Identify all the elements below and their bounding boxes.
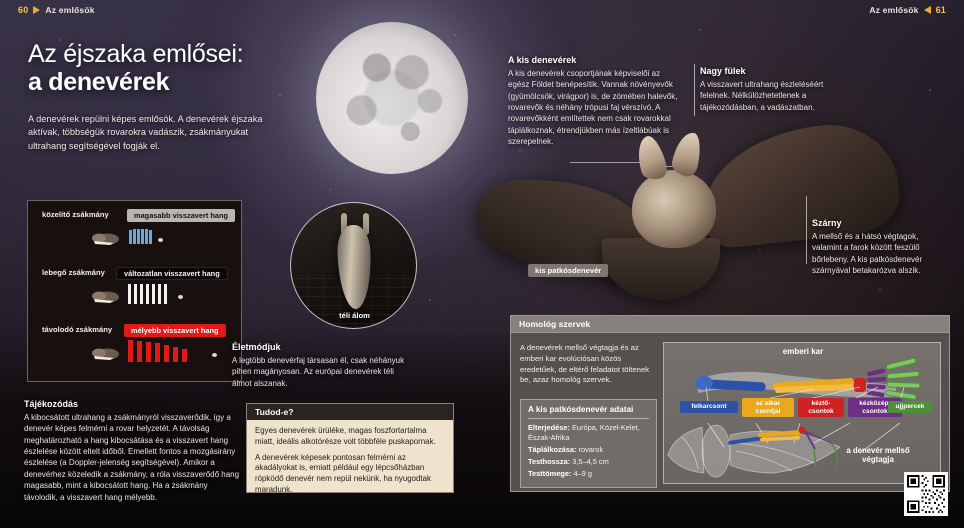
species-data-val-mass: 4–9 g: [571, 469, 592, 478]
callout-wing-body: A mellső és a hátsó végtagok, valamint a…: [812, 231, 940, 276]
species-data-val-length: 3,5–4,5 cm: [570, 457, 609, 466]
prey-dot-2: [178, 295, 183, 299]
lead-paragraph: A denevérek repülni képes emlősök. A den…: [28, 113, 276, 153]
page-title: Az éjszaka emlősei: a denevérek: [28, 40, 328, 97]
echo-label-receding: távolodó zsákmány: [42, 325, 112, 334]
echo-badge-hovering: változatlan visszavert hang: [116, 267, 228, 280]
callout-wing: Szárny A mellső és a hátsó végtagok, val…: [812, 218, 940, 276]
echo-bars-hovering: [128, 284, 167, 304]
title-line-2: a denevérek: [28, 68, 328, 96]
homologous-panel-heading: Homológ szervek: [511, 316, 949, 333]
callout-wing-heading: Szárny: [812, 218, 940, 228]
bone-label-forearm: az alkar csontjai: [742, 398, 794, 417]
prey-insect-icon-3: [88, 344, 122, 362]
echo-bars-approaching: [129, 229, 152, 244]
title-line-1: Az éjszaka emlősei:: [28, 40, 243, 68]
section-label-right: Az emlősök: [869, 5, 918, 15]
callout-orientation: Tájékozódás A kibocsátott ultrahang a zs…: [24, 399, 242, 503]
header-left: 60 Az emlősök: [18, 5, 95, 15]
callout-orientation-body: A kibocsátott ultrahang a zsákmányról vi…: [24, 412, 242, 503]
homologous-organs-panel: Homológ szervek A denevérek mellső végta…: [510, 315, 950, 492]
did-you-know-heading: Tudod-e?: [247, 404, 453, 420]
homologous-panel-intro: A denevérek mellső végtagja és az emberi…: [520, 343, 655, 386]
callout-lifestyle-heading: Életmódjuk: [232, 342, 414, 352]
echo-row-approaching: közelítő zsákmány magasabb visszavert ha…: [28, 207, 243, 263]
diagram-title: emberi kar: [664, 347, 942, 356]
species-data-key-length: Testhossza:: [528, 457, 570, 466]
pill-label-bat-species: kis patkósdenevér: [528, 264, 608, 277]
full-moon-photo: [316, 22, 468, 174]
species-data-row-range: Elterjedése: Európa, Közel-Kelet, Észak-…: [528, 423, 649, 443]
did-you-know-p1: Egyes denevérek ürüléke, magas foszforta…: [255, 426, 445, 448]
section-label-left: Az emlősök: [45, 5, 94, 15]
prey-dot-3: [212, 353, 217, 357]
bat-ear-left: [632, 133, 669, 182]
callout-orientation-heading: Tájékozódás: [24, 399, 242, 409]
echo-row-hovering: lebegő zsákmány változatlan visszavert h…: [28, 265, 243, 321]
echolocation-panel: közelítő zsákmány magasabb visszavert ha…: [27, 200, 242, 382]
magazine-spread: 60 Az emlősök Az emlősök 61 Az éjszaka e…: [0, 0, 964, 528]
hibernation-caption: téli álom: [291, 311, 417, 320]
callout-big-ears-body: A visszavert ultrahang észleléséért fele…: [700, 79, 830, 113]
callout-big-ears: Nagy fülek A visszavert ultrahang észlel…: [700, 66, 830, 113]
header-right: Az emlősök 61: [869, 5, 946, 15]
species-data-key-mass: Testtömege:: [528, 469, 571, 478]
callout-small-bats-heading: A kis denevérek: [508, 55, 680, 65]
species-data-val-diet: rovarok: [576, 445, 603, 454]
echo-label-approaching: közelítő zsákmány: [42, 210, 109, 219]
species-data-key-diet: Táplálkozása:: [528, 445, 576, 454]
echo-row-receding: távolodó zsákmány mélyebb visszavert han…: [28, 322, 243, 378]
echo-badge-receding: mélyebb visszavert hang: [124, 324, 226, 337]
qr-code[interactable]: [904, 472, 948, 516]
callout-big-ears-heading: Nagy fülek: [700, 66, 830, 76]
species-data-title: A kis patkósdenevér adatai: [528, 405, 649, 414]
triangle-left-icon: [924, 6, 931, 14]
did-you-know-body: Egyes denevérek ürüléke, magas foszforta…: [247, 420, 453, 496]
species-data-row-length: Testhossza: 3,5–4,5 cm: [528, 457, 649, 467]
bone-label-phalanges: ujjpercek: [888, 401, 932, 413]
hibernation-photo: téli álom: [290, 202, 417, 329]
species-data-card: A kis patkósdenevér adatai Elterjedése: …: [520, 399, 657, 488]
did-you-know-box: Tudod-e? Egyes denevérek ürüléke, magas …: [246, 403, 454, 493]
triangle-right-icon: [33, 6, 40, 14]
bat-tail-membrane: [602, 238, 720, 300]
prey-insect-icon-1: [88, 229, 122, 247]
species-data-row-mass: Testtömege: 4–9 g: [528, 469, 649, 479]
page-number-left: 60: [18, 5, 28, 15]
callout-lifestyle: Életmódjuk A legtöbb denevérfaj társasan…: [232, 342, 414, 389]
prey-dot-1: [158, 238, 163, 242]
echo-badge-approaching: magasabb visszavert hang: [127, 209, 235, 222]
prey-insect-icon-2: [88, 287, 122, 305]
divider-wing: [806, 196, 807, 264]
bat-ear-right: [670, 130, 705, 178]
bat-head-and-body: [632, 170, 716, 248]
bone-label-carpals: kéztő-csontok: [798, 398, 844, 417]
callout-lifestyle-body: A legtöbb denevérfaj társasan él, csak n…: [232, 355, 414, 389]
divider: [528, 418, 649, 419]
bone-label-humerus: felkarcsont: [680, 401, 738, 413]
did-you-know-p2: A denevérek képesek pontosan felmérni az…: [255, 453, 445, 496]
echo-bars-receding: [128, 340, 187, 362]
echo-label-hovering: lebegő zsákmány: [42, 268, 105, 277]
species-data-row-diet: Táplálkozása: rovarok: [528, 445, 649, 455]
species-data-key-range: Elterjedése:: [528, 423, 570, 432]
divider-big-ears: [694, 64, 695, 116]
page-number-right: 61: [936, 5, 946, 15]
homology-diagram: emberi kar: [663, 342, 941, 484]
diagram-caption: a denevér mellső végtagja: [830, 446, 926, 465]
